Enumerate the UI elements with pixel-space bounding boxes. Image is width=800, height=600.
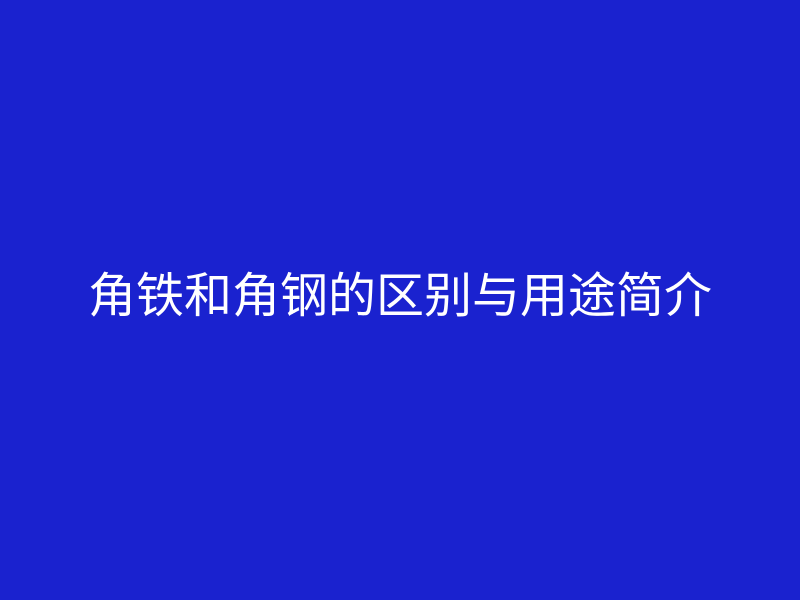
page-title: 角铁和角钢的区别与用途简介 [88,272,712,320]
headline-container: 角铁和角钢的区别与用途简介 [0,272,800,320]
title-card: 角铁和角钢的区别与用途简介 [0,0,800,600]
